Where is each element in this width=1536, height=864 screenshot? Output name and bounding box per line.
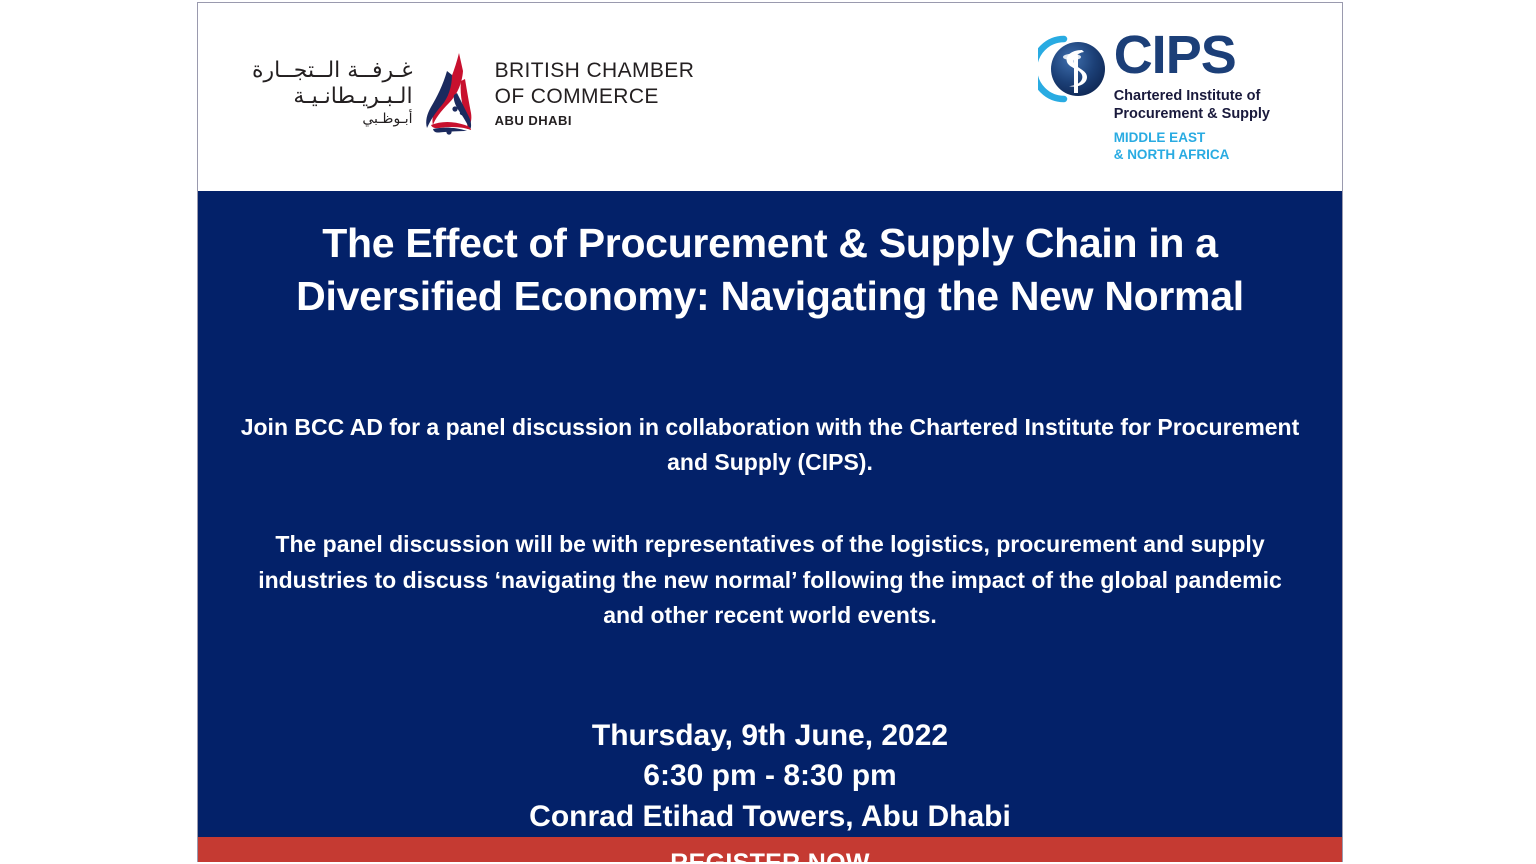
event-description-paragraph-2: The panel discussion will be with repres… [235,527,1305,634]
cips-subtitle-line-2: Procurement & Supply [1114,105,1270,123]
event-date: Thursday, 9th June, 2022 [232,716,1308,757]
event-details-block: Thursday, 9th June, 2022 6:30 pm - 8:30 … [232,716,1308,838]
bcc-arabic-line-3: أبـوظـبي [252,111,413,128]
register-now-button[interactable]: REGISTER NOW [198,837,1342,862]
event-venue: Conrad Etihad Towers, Abu Dhabi [232,797,1308,838]
cips-circle-swirl-mark-icon [1038,33,1110,105]
bcc-english-text-block: BRITISH CHAMBER OF COMMERCE ABU DHABI [495,58,695,128]
cips-subtitle-line-1: Chartered Institute of [1114,87,1270,105]
bcc-arabic-line-1: غـرفــة الــتجــارة [252,58,413,84]
bcc-english-line-3: ABU DHABI [495,113,695,128]
flyer-body: The Effect of Procurement & Supply Chain… [198,191,1342,837]
event-title: The Effect of Procurement & Supply Chain… [265,191,1275,324]
cips-wordmark: CIPS [1114,31,1270,81]
screenshot-root: غـرفــة الــتجــارة الـبـريـطانـيـة أبـو… [0,0,1536,864]
cips-logo: CIPS Chartered Institute of Procurement … [1038,31,1270,164]
cips-text-block: CIPS Chartered Institute of Procurement … [1114,31,1270,164]
event-time: 6:30 pm - 8:30 pm [232,756,1308,797]
cips-region-line-2: & NORTH AFRICA [1114,147,1270,164]
event-flyer-card: غـرفــة الــتجــارة الـبـريـطانـيـة أبـو… [197,2,1343,862]
british-chamber-of-commerce-logo: غـرفــة الــتجــارة الـبـريـطانـيـة أبـو… [252,51,694,135]
bcc-english-line-2: OF COMMERCE [495,84,695,110]
logo-header-band: غـرفــة الــتجــارة الـبـريـطانـيـة أبـو… [198,3,1342,191]
bcc-arabic-text-block: غـرفــة الــتجــارة الـبـريـطانـيـة أبـو… [252,58,413,127]
bcc-calligraphy-mark-icon [419,51,481,135]
cips-region-line-1: MIDDLE EAST [1114,130,1270,147]
bcc-english-line-1: BRITISH CHAMBER [495,58,695,84]
register-now-label: REGISTER NOW [670,849,869,862]
event-description-paragraph-1: Join BCC AD for a panel discussion in co… [235,410,1305,481]
bcc-arabic-line-2: الـبـريـطانـيـة [252,84,413,110]
